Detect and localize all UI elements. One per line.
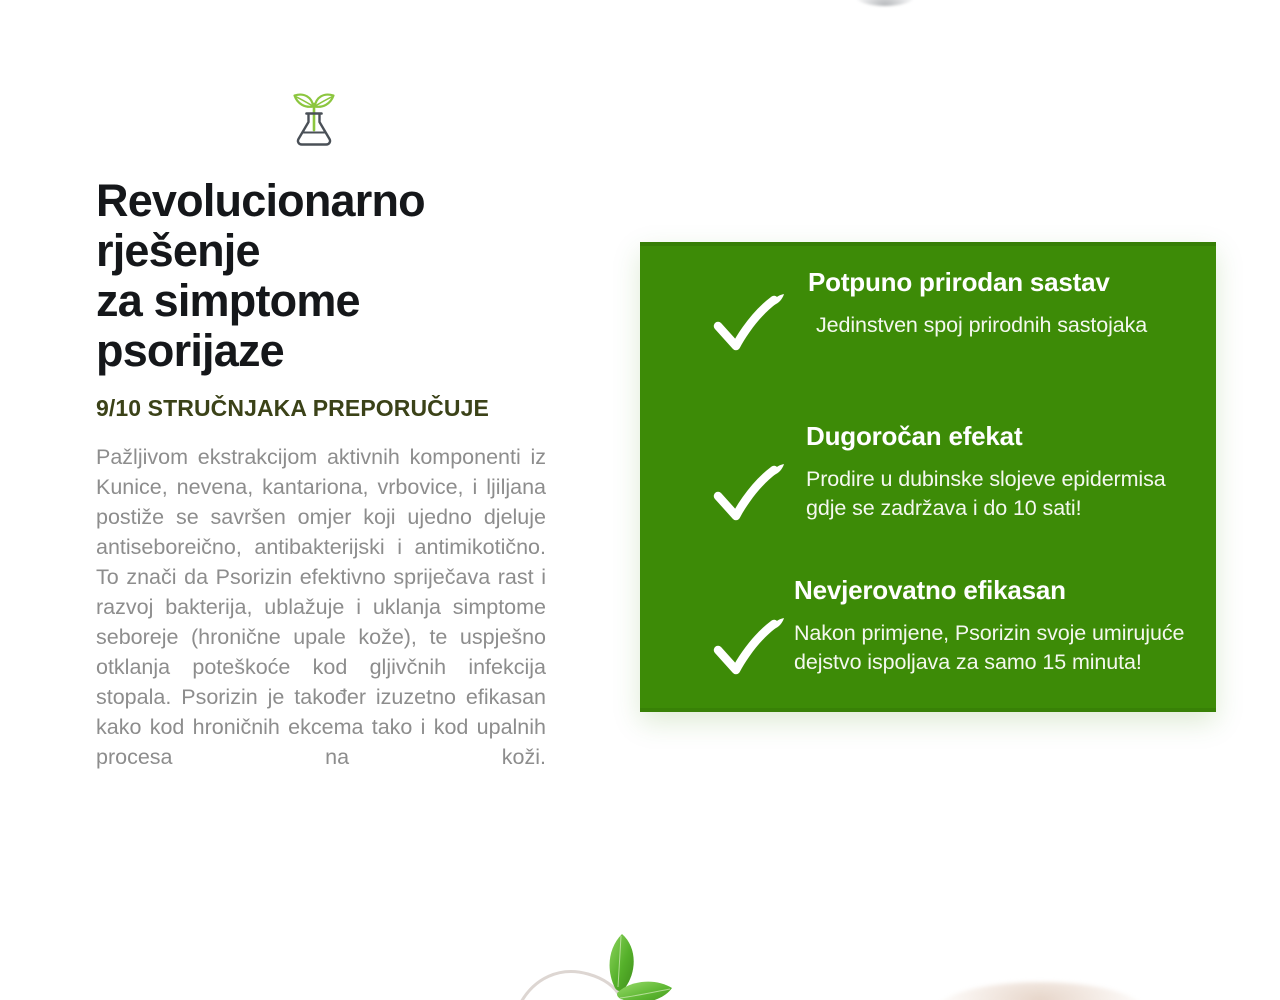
benefit-description: Jedinstven spoj prirodnih sastojaka [816, 311, 1188, 340]
benefit-item: Potpuno prirodan sastav Jedinstven spoj … [696, 266, 1188, 384]
benefits-card: Potpuno prirodan sastav Jedinstven spoj … [640, 242, 1216, 712]
benefit-description: Prodire u dubinske slojeve epidermisa gd… [806, 465, 1188, 523]
headline-line-2: rješenje [96, 225, 260, 276]
product-jar-lid-smudge [935, 982, 1145, 1000]
benefit-item: Dugoročan efekat Prodire u dubinske sloj… [696, 420, 1188, 538]
headline-line-3: za simptome [96, 275, 360, 326]
headline-line-4: psorijaze [96, 325, 284, 376]
check-leaf-icon [712, 614, 788, 678]
benefit-item: Nevjerovatno efikasan Nakon primjene, Ps… [696, 574, 1188, 692]
hero-body-paragraph: Pažljivom ekstrakcijom aktivnih komponen… [96, 442, 546, 802]
hero-text-column: Revolucionarnorješenjeza simptomepsorija… [94, 82, 546, 802]
benefits-list: Potpuno prirodan sastav Jedinstven spoj … [640, 242, 1216, 716]
page-title: Revolucionarnorješenjeza simptomepsorija… [96, 176, 546, 376]
benefit-title: Potpuno prirodan sastav [808, 266, 1188, 298]
check-leaf-icon [712, 290, 788, 354]
benefit-title: Nevjerovatno efikasan [794, 574, 1188, 606]
flask-leaf-icon [278, 82, 350, 154]
product-bottom-edge-smudge [855, 0, 915, 6]
check-leaf-icon [712, 460, 788, 524]
sprout-leaves-icon [520, 912, 740, 1000]
benefit-title: Dugoročan efekat [806, 420, 1188, 452]
headline-line-1: Revolucionarno [96, 175, 425, 226]
benefit-description: Nakon primjene, Psorizin svoje umirujuće… [794, 619, 1188, 677]
page-root: Revolucionarnorješenjeza simptomepsorija… [0, 0, 1280, 1000]
page-subtitle: 9/10 STRUČNJAKA PREPORUČUJE [96, 394, 546, 422]
